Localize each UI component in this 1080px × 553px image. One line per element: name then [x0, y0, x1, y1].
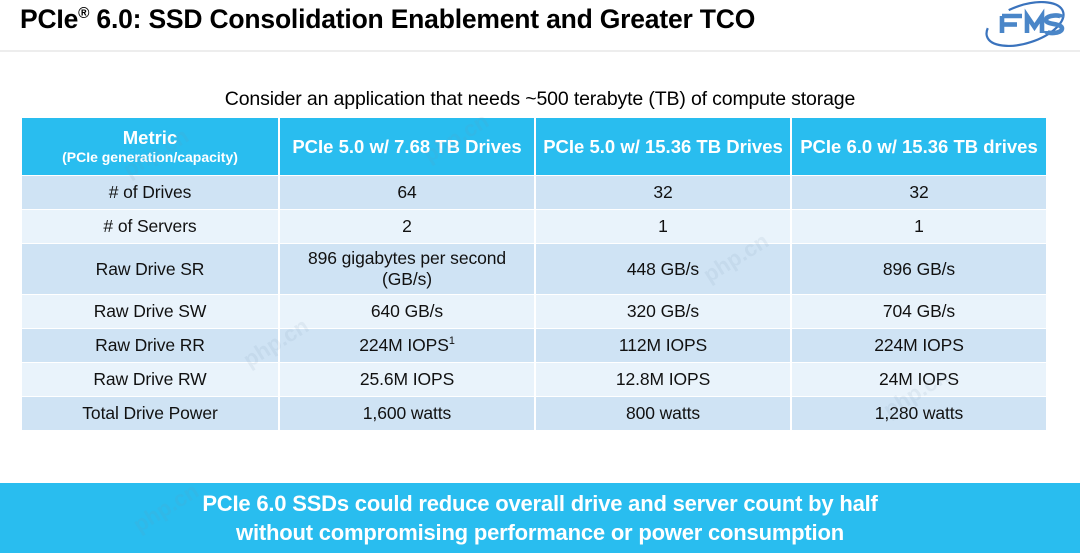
cell-pcie5-768: 1,600 watts	[280, 397, 534, 430]
table-row: Raw Drive RR 224M IOPS1 112M IOPS 224M I…	[22, 329, 1046, 362]
cell-pcie5-1536: 1	[536, 210, 790, 243]
takeaway-line-1: PCIe 6.0 SSDs could reduce overall drive…	[202, 489, 877, 518]
registered-mark-icon: ®	[78, 5, 89, 22]
table-header-row: Metric (PCIe generation/capacity) PCIe 5…	[22, 118, 1046, 175]
cell-pcie5-1536: 320 GB/s	[536, 295, 790, 328]
spec-table-container: Metric (PCIe generation/capacity) PCIe 5…	[20, 117, 1042, 431]
page-title-prefix: PCIe	[20, 4, 78, 34]
cell-pcie5-1536: 12.8M IOPS	[536, 363, 790, 396]
fms-logo	[982, 1, 1068, 47]
cell-pcie6-1536: 32	[792, 176, 1046, 209]
page-title: PCIe® 6.0: SSD Consolidation Enablement …	[20, 4, 755, 35]
column-header-pcie5-1536: PCIe 5.0 w/ 15.36 TB Drives	[536, 118, 790, 175]
cell-pcie6-1536: 1	[792, 210, 1046, 243]
cell-pcie5-768: 64	[280, 176, 534, 209]
cell-value: 224M IOPS	[359, 335, 449, 355]
cell-pcie6-1536: 24M IOPS	[792, 363, 1046, 396]
column-header-metric-title: Metric	[123, 127, 178, 148]
cell-pcie5-768: 896 gigabytes per second (GB/s)	[280, 244, 534, 294]
table-row: Raw Drive SW 640 GB/s 320 GB/s 704 GB/s	[22, 295, 1046, 328]
table-row: Raw Drive RW 25.6M IOPS 12.8M IOPS 24M I…	[22, 363, 1046, 396]
row-label: Raw Drive RR	[22, 329, 278, 362]
row-label: # of Drives	[22, 176, 278, 209]
title-divider	[0, 50, 1080, 52]
title-bar: PCIe® 6.0: SSD Consolidation Enablement …	[0, 0, 1080, 51]
column-header-pcie5-768: PCIe 5.0 w/ 7.68 TB Drives	[280, 118, 534, 175]
column-header-metric-subtitle: (PCIe generation/capacity)	[28, 149, 272, 166]
cell-pcie6-1536: 1,280 watts	[792, 397, 1046, 430]
cell-pcie5-768: 25.6M IOPS	[280, 363, 534, 396]
cell-pcie5-1536: 800 watts	[536, 397, 790, 430]
page-title-rest: 6.0: SSD Consolidation Enablement and Gr…	[89, 4, 755, 34]
cell-pcie6-1536: 896 GB/s	[792, 244, 1046, 294]
row-label: Raw Drive RW	[22, 363, 278, 396]
table-row: Raw Drive SR 896 gigabytes per second (G…	[22, 244, 1046, 294]
cell-pcie5-768: 640 GB/s	[280, 295, 534, 328]
takeaway-banner: PCIe 6.0 SSDs could reduce overall drive…	[0, 483, 1080, 553]
slide-root: PCIe® 6.0: SSD Consolidation Enablement …	[0, 0, 1080, 553]
cell-pcie5-768: 2	[280, 210, 534, 243]
row-label: Raw Drive SW	[22, 295, 278, 328]
row-label: Raw Drive SR	[22, 244, 278, 294]
row-label: # of Servers	[22, 210, 278, 243]
cell-pcie5-1536: 448 GB/s	[536, 244, 790, 294]
footnote-marker: 1	[449, 335, 455, 347]
table-row: # of Drives 64 32 32	[22, 176, 1046, 209]
table-row: Total Drive Power 1,600 watts 800 watts …	[22, 397, 1046, 430]
column-header-pcie6-1536: PCIe 6.0 w/ 15.36 TB drives	[792, 118, 1046, 175]
column-header-metric: Metric (PCIe generation/capacity)	[22, 118, 278, 175]
spec-table: Metric (PCIe generation/capacity) PCIe 5…	[20, 117, 1048, 431]
cell-pcie5-768: 224M IOPS1	[280, 329, 534, 362]
table-row: # of Servers 2 1 1	[22, 210, 1046, 243]
cell-pcie5-1536: 32	[536, 176, 790, 209]
cell-pcie5-1536: 112M IOPS	[536, 329, 790, 362]
takeaway-line-2: without compromising performance or powe…	[236, 518, 844, 547]
row-label: Total Drive Power	[22, 397, 278, 430]
table-caption: Consider an application that needs ~500 …	[0, 88, 1080, 111]
cell-pcie6-1536: 224M IOPS	[792, 329, 1046, 362]
cell-pcie6-1536: 704 GB/s	[792, 295, 1046, 328]
